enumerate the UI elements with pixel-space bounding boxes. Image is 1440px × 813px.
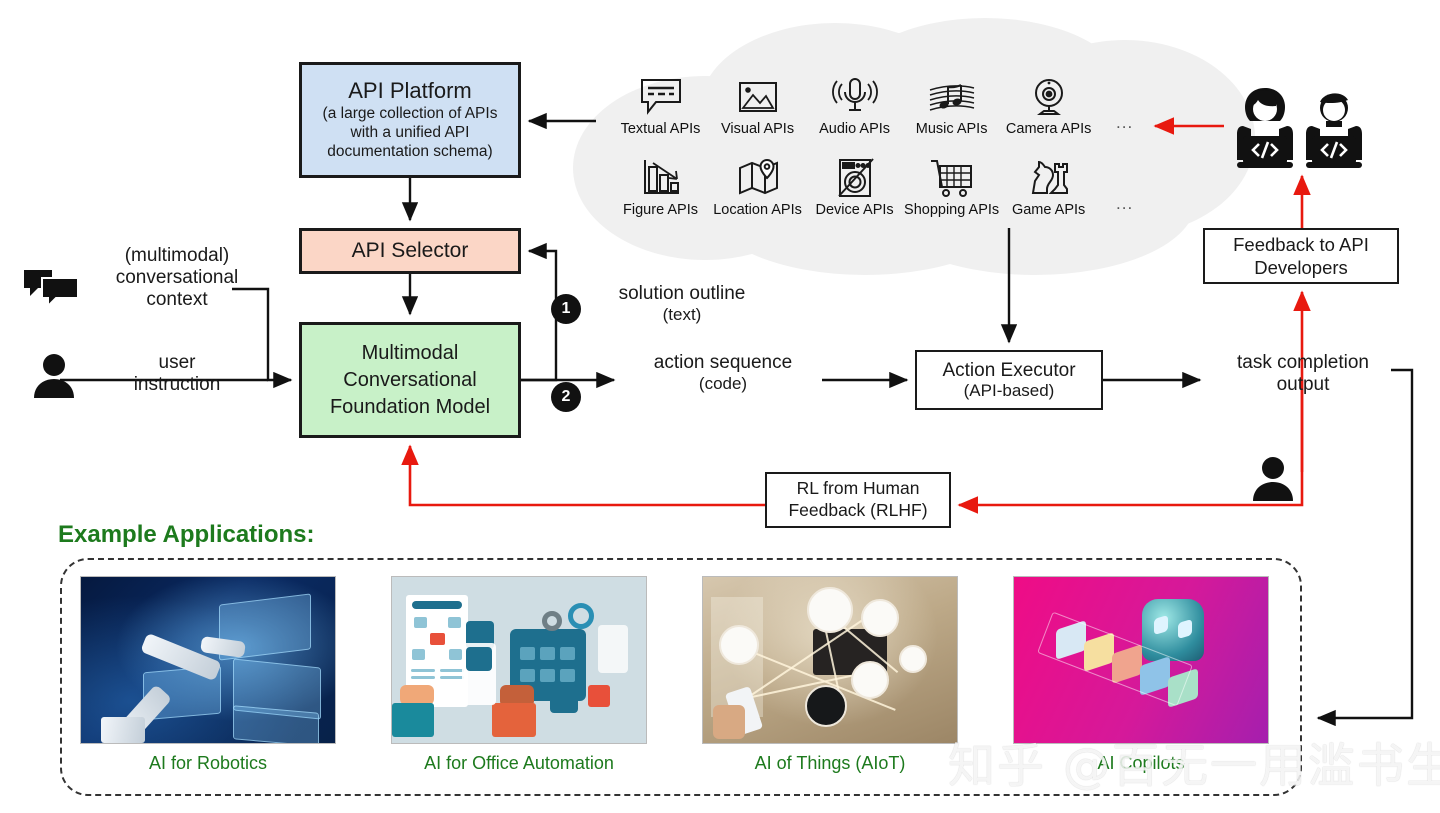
api-item-label: Figure APIs <box>612 202 709 218</box>
user-instruction-label: user instruction <box>92 352 262 396</box>
context-line-2: conversational <box>62 267 292 289</box>
location-apis-icon <box>709 153 806 199</box>
api-item-shopping[interactable]: Shopping APIs <box>903 153 1000 218</box>
action-sequence-main: action sequence <box>625 352 821 374</box>
api-item-label: Audio APIs <box>806 121 903 137</box>
shopping-apis-icon <box>903 153 1000 199</box>
action-executor-box[interactable]: Action Executor (API-based) <box>915 350 1103 410</box>
api-row1-ellipsis: ... <box>1097 72 1152 137</box>
step-badge-1: 1 <box>551 294 581 324</box>
step-badge-2: 2 <box>551 382 581 412</box>
api-item-label: Music APIs <box>903 121 1000 137</box>
example-app-card[interactable]: AI for Office Automation <box>391 576 647 774</box>
api-icon-row-1: Textual APIs Visual APIs <box>612 72 1152 137</box>
api-icon-grid: Textual APIs Visual APIs <box>612 72 1152 218</box>
api-item-camera[interactable]: Camera APIs <box>1000 72 1097 137</box>
api-item-device[interactable]: Device APIs <box>806 153 903 218</box>
api-developer-male-icon <box>1300 86 1368 175</box>
solution-outline-main: solution outline <box>592 283 772 305</box>
ai-of-things-thumbnail <box>702 576 958 744</box>
api-item-label: Device APIs <box>806 202 903 218</box>
music-apis-icon <box>903 72 1000 118</box>
api-platform-subtitle: (a large collection of APIs with a unifi… <box>302 105 518 161</box>
device-apis-icon <box>806 153 903 199</box>
example-app-label: AI of Things (AIoT) <box>702 753 958 774</box>
context-line-3: context <box>62 289 292 311</box>
task-completion-line-2: output <box>1208 374 1398 396</box>
example-applications-title: Example Applications: <box>58 521 315 549</box>
api-item-label: Textual APIs <box>612 121 709 137</box>
rlhf-box[interactable]: RL from Human Feedback (RLHF) <box>765 472 951 528</box>
solution-outline-label: solution outline (text) <box>592 283 772 324</box>
api-item-visual[interactable]: Visual APIs <box>709 72 806 137</box>
human-evaluator-icon <box>1249 455 1297 508</box>
task-completion-line-1: task completion <box>1208 352 1398 374</box>
feedback-to-developers-box[interactable]: Feedback to API Developers <box>1203 228 1399 284</box>
camera-apis-icon <box>1000 72 1097 118</box>
api-item-figure[interactable]: Figure APIs <box>612 153 709 218</box>
ai-copilots-thumbnail <box>1013 576 1269 744</box>
watermark: 知乎 @百无一用滥书生 <box>948 727 1440 796</box>
api-icon-row-2: Figure APIs Location APIs <box>612 153 1152 218</box>
api-item-music[interactable]: Music APIs <box>903 72 1000 137</box>
api-item-label: Camera APIs <box>1000 121 1097 137</box>
figure-apis-icon <box>612 153 709 199</box>
example-app-label: AI for Robotics <box>80 753 336 774</box>
foundation-model-box[interactable]: Multimodal Conversational Foundation Mod… <box>299 322 521 438</box>
action-executor-subtitle: (API-based) <box>964 381 1055 400</box>
api-item-textual[interactable]: Textual APIs <box>612 72 709 137</box>
action-executor-title: Action Executor <box>942 360 1075 381</box>
api-item-label: Visual APIs <box>709 121 806 137</box>
api-item-label: Game APIs <box>1000 202 1097 218</box>
user-line-1: user <box>92 352 262 374</box>
api-selector-box[interactable]: API Selector <box>299 228 521 274</box>
api-platform-title: API Platform <box>348 79 471 104</box>
api-item-audio[interactable]: Audio APIs <box>806 72 903 137</box>
visual-apis-icon <box>709 72 806 118</box>
conversational-context-label: (multimodal) conversational context <box>62 245 292 311</box>
ai-office-automation-thumbnail <box>391 576 647 744</box>
api-developer-female-icon <box>1231 86 1299 175</box>
example-app-card[interactable]: AI for Robotics <box>80 576 336 774</box>
api-platform-box[interactable]: API Platform (a large collection of APIs… <box>299 62 521 178</box>
api-row2-ellipsis: ... <box>1097 153 1152 218</box>
context-line-1: (multimodal) <box>62 245 292 267</box>
api-selector-title: API Selector <box>352 239 469 263</box>
api-item-game[interactable]: Game APIs <box>1000 153 1097 218</box>
api-item-location[interactable]: Location APIs <box>709 153 806 218</box>
api-item-label: Location APIs <box>709 202 806 218</box>
audio-apis-icon <box>806 72 903 118</box>
textual-apis-icon <box>612 72 709 118</box>
api-item-label: Shopping APIs <box>903 202 1000 218</box>
feedback-to-developers-title: Feedback to API Developers <box>1205 233 1397 279</box>
chat-bubbles-icon <box>22 268 80 315</box>
solution-outline-sub: (text) <box>592 305 772 325</box>
user-line-2: instruction <box>92 374 262 396</box>
action-sequence-sub: (code) <box>625 374 821 394</box>
foundation-model-title: Multimodal Conversational Foundation Mod… <box>302 340 518 421</box>
ai-robotics-thumbnail <box>80 576 336 744</box>
user-person-icon <box>30 352 78 405</box>
game-apis-icon <box>1000 153 1097 199</box>
task-completion-output-label: task completion output <box>1208 352 1398 396</box>
example-app-label: AI for Office Automation <box>391 753 647 774</box>
rlhf-title: RL from Human Feedback (RLHF) <box>767 478 949 522</box>
action-sequence-label: action sequence (code) <box>625 352 821 393</box>
example-app-card[interactable]: AI of Things (AIoT) <box>702 576 958 774</box>
